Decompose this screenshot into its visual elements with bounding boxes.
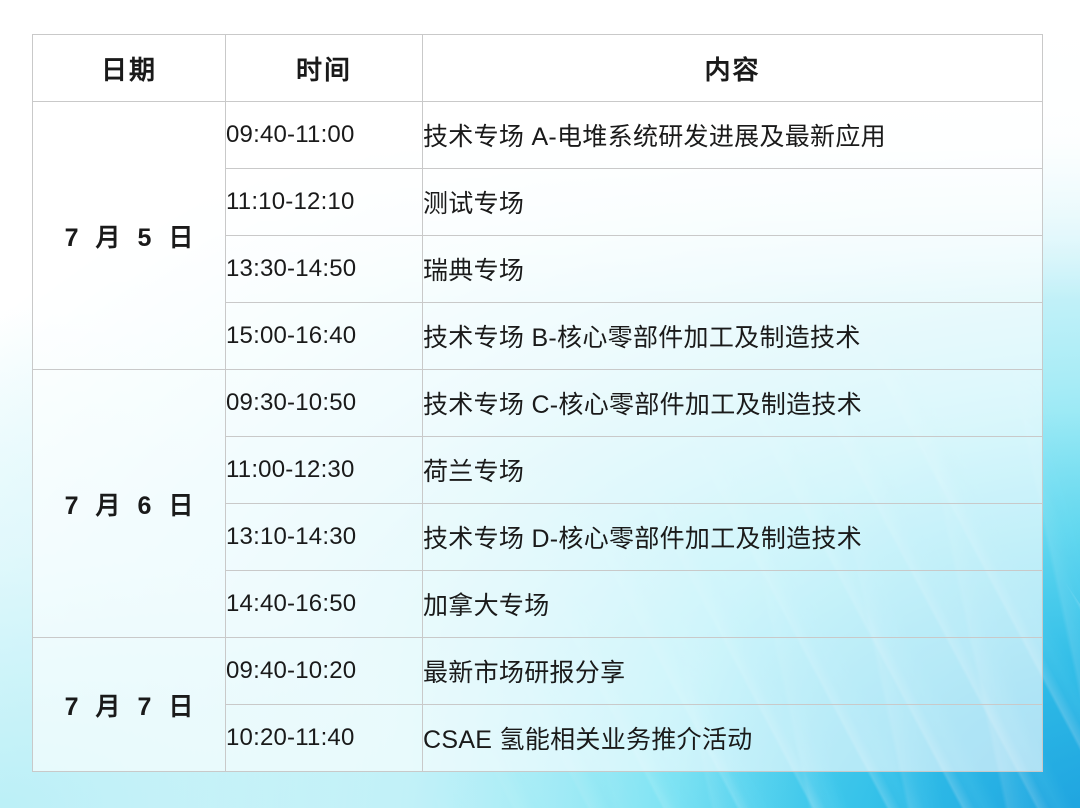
column-header-date: 日期: [33, 35, 226, 102]
column-header-content: 内容: [423, 35, 1043, 102]
time-cell: 09:30-10:50: [226, 370, 423, 437]
time-cell: 11:10-12:10: [226, 169, 423, 236]
table-row: 7 月 6 日 09:30-10:50 技术专场 C-核心零部件加工及制造技术: [33, 370, 1043, 437]
table-row: 7 月 7 日 09:40-10:20 最新市场研报分享: [33, 638, 1043, 705]
date-cell-day-3: 7 月 7 日: [33, 638, 226, 772]
date-cell-day-1: 7 月 5 日: [33, 102, 226, 370]
time-cell: 11:00-12:30: [226, 437, 423, 504]
time-cell: 14:40-16:50: [226, 571, 423, 638]
time-cell: 09:40-11:00: [226, 102, 423, 169]
time-cell: 13:10-14:30: [226, 504, 423, 571]
time-cell: 09:40-10:20: [226, 638, 423, 705]
content-cell: 技术专场 D-核心零部件加工及制造技术: [423, 504, 1043, 571]
table-row: 7 月 5 日 09:40-11:00 技术专场 A-电堆系统研发进展及最新应用: [33, 102, 1043, 169]
schedule-table: 日期 时间 内容 7 月 5 日 09:40-11:00 技术专场 A-电堆系统…: [32, 34, 1043, 772]
content-cell: 技术专场 B-核心零部件加工及制造技术: [423, 303, 1043, 370]
table-body: 7 月 5 日 09:40-11:00 技术专场 A-电堆系统研发进展及最新应用…: [33, 102, 1043, 772]
schedule-table-container: 日期 时间 内容 7 月 5 日 09:40-11:00 技术专场 A-电堆系统…: [32, 34, 1042, 772]
table-header: 日期 时间 内容: [33, 35, 1043, 102]
content-cell: CSAE 氢能相关业务推介活动: [423, 705, 1043, 772]
time-cell: 13:30-14:50: [226, 236, 423, 303]
date-cell-day-2: 7 月 6 日: [33, 370, 226, 638]
time-cell: 10:20-11:40: [226, 705, 423, 772]
slide-canvas: 日期 时间 内容 7 月 5 日 09:40-11:00 技术专场 A-电堆系统…: [0, 0, 1080, 808]
content-cell: 技术专场 C-核心零部件加工及制造技术: [423, 370, 1043, 437]
column-header-time: 时间: [226, 35, 423, 102]
content-cell: 加拿大专场: [423, 571, 1043, 638]
content-cell: 荷兰专场: [423, 437, 1043, 504]
time-cell: 15:00-16:40: [226, 303, 423, 370]
content-cell: 瑞典专场: [423, 236, 1043, 303]
content-cell: 测试专场: [423, 169, 1043, 236]
table-header-row: 日期 时间 内容: [33, 35, 1043, 102]
content-cell: 技术专场 A-电堆系统研发进展及最新应用: [423, 102, 1043, 169]
content-cell: 最新市场研报分享: [423, 638, 1043, 705]
